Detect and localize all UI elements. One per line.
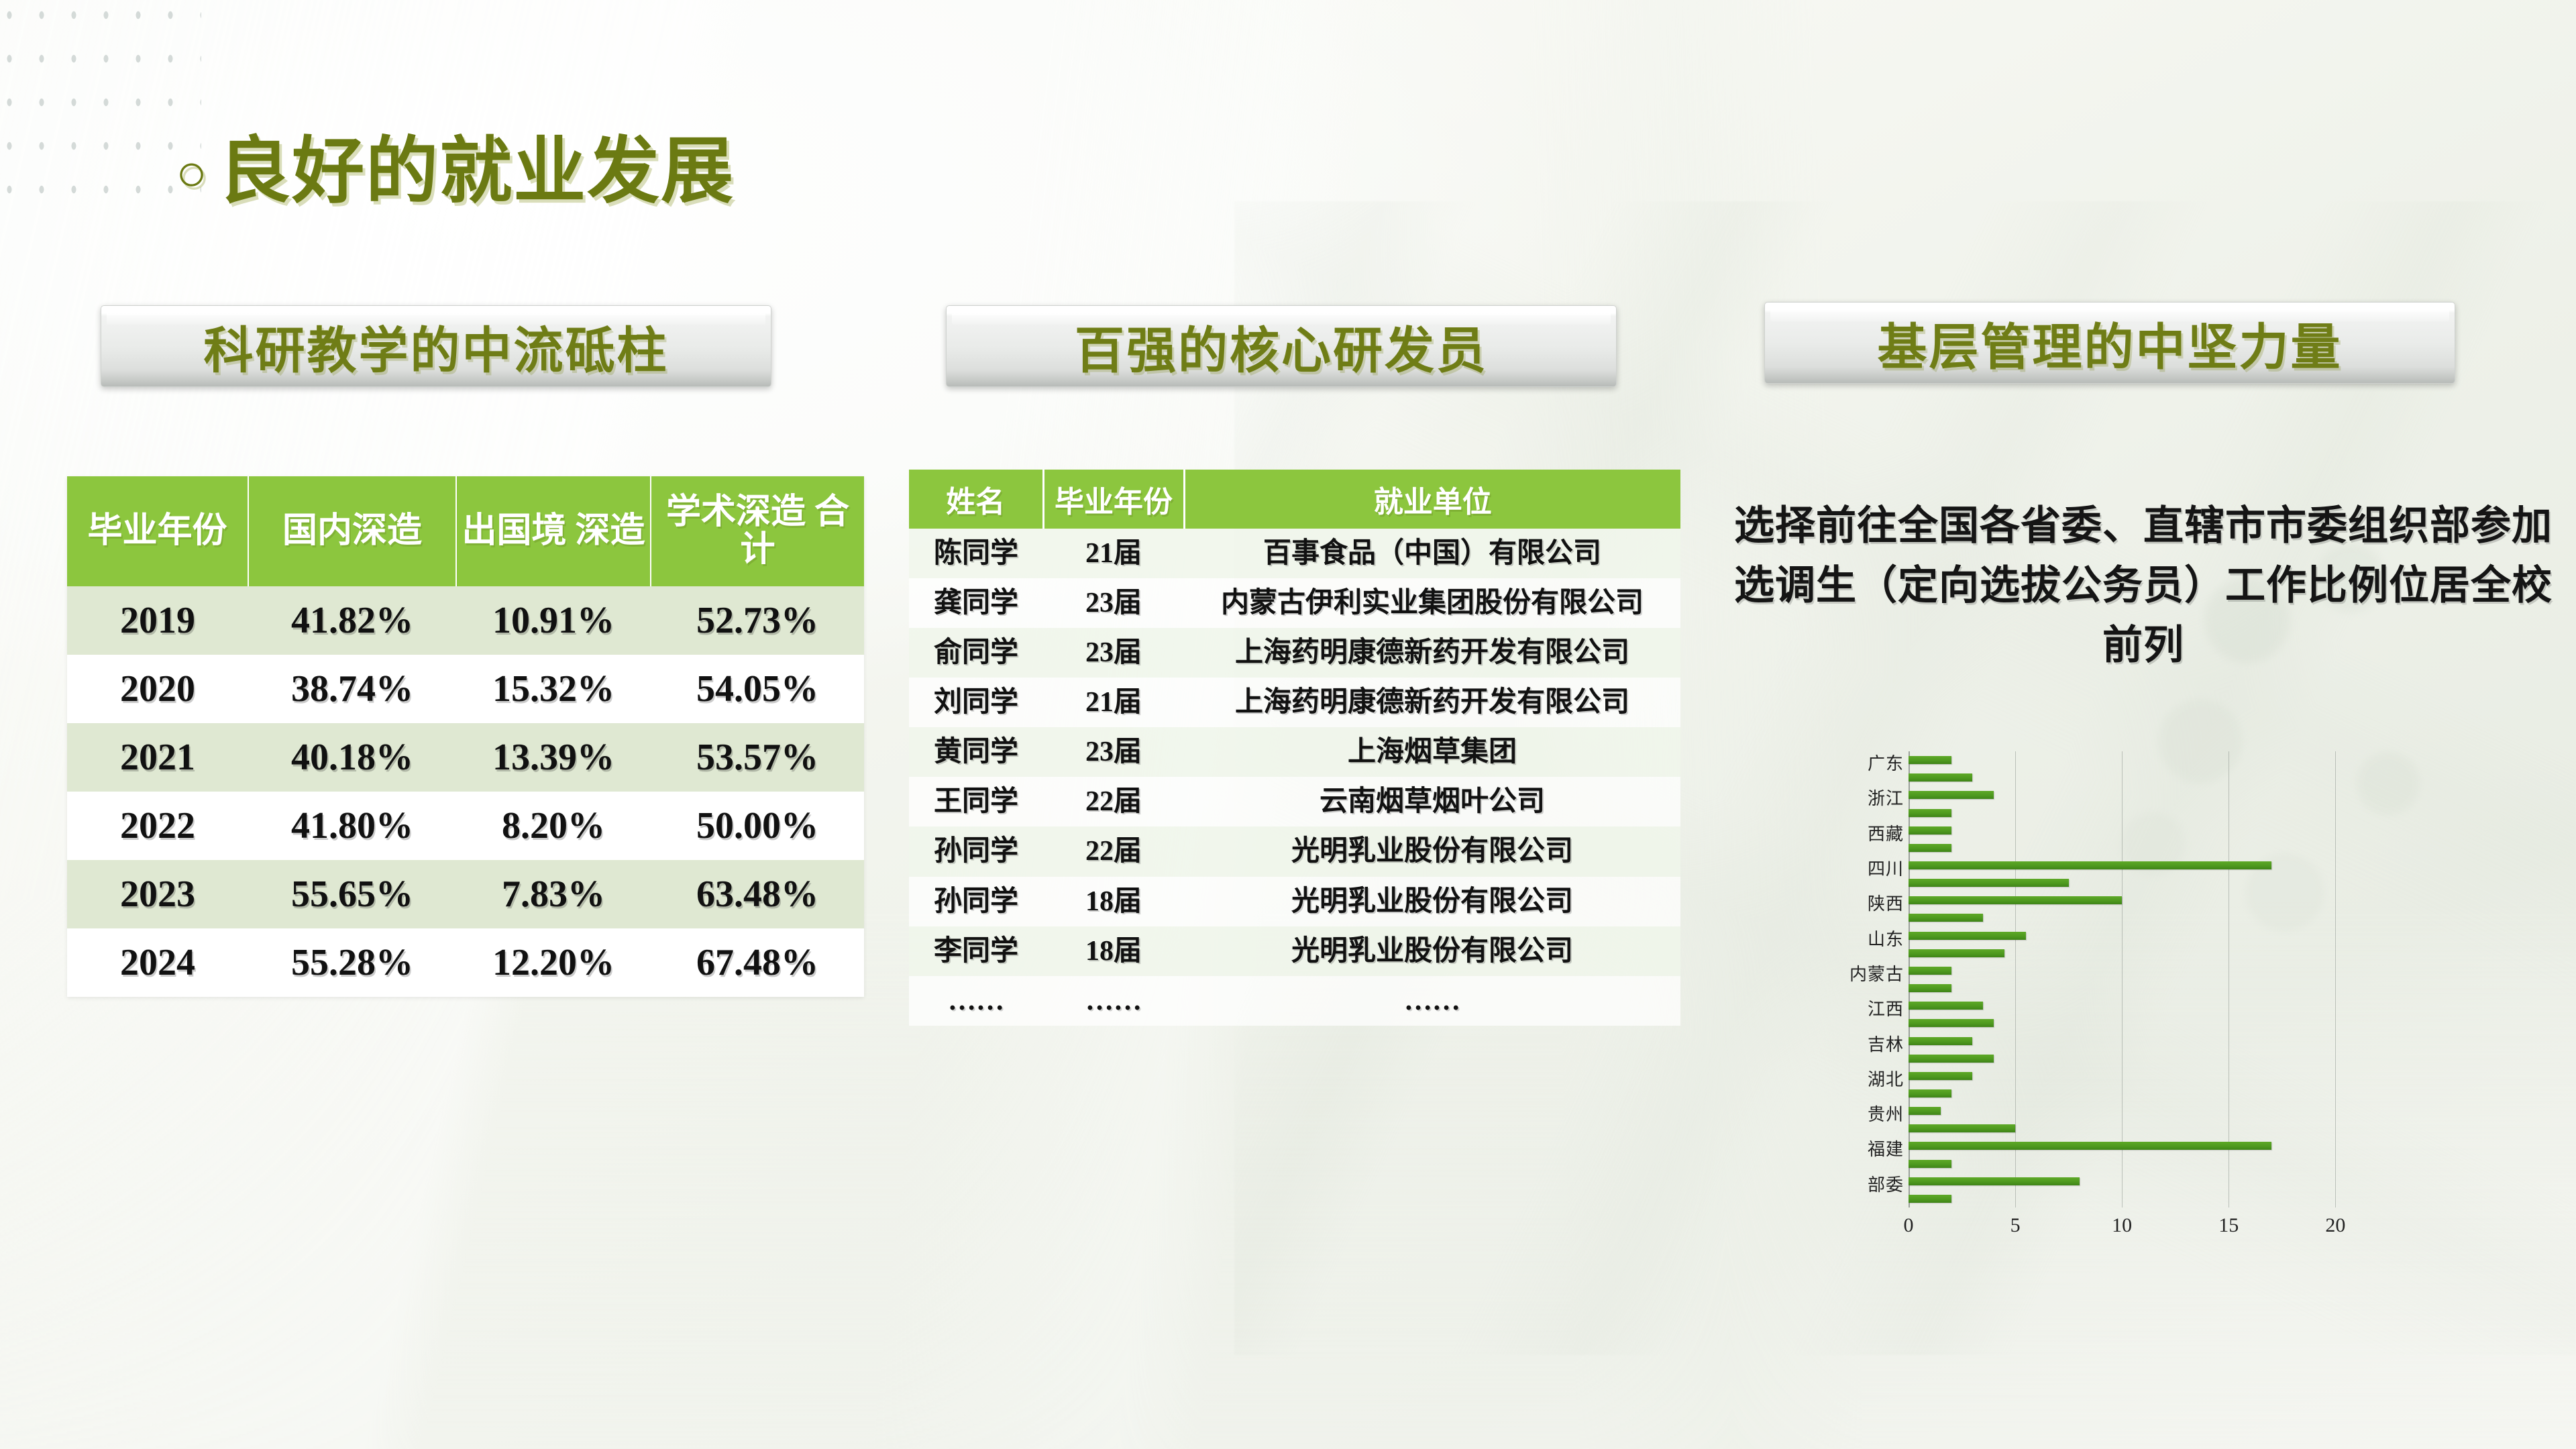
chart-plot-area — [1909, 751, 2378, 1207]
cell-domestic: 38.74% — [248, 655, 456, 723]
circle-bullet-icon: ○ — [176, 144, 209, 202]
table-row: 陈同学 21届 百事食品（中国）有限公司 — [909, 529, 1680, 578]
chart-y-label: 广东 — [1868, 750, 1904, 775]
cell-domestic: 55.28% — [248, 928, 456, 997]
table-row: 孙同学 22届 光明乳业股份有限公司 — [909, 826, 1680, 876]
column-header-year: 毕业年份 — [1043, 470, 1184, 529]
province-distribution-chart: 05101520广东浙江西藏四川陕西山东内蒙古江西吉林湖北贵州福建部委 — [1825, 751, 2495, 1248]
chart-y-label: 内蒙古 — [1849, 961, 1904, 985]
cell-domestic: 55.65% — [248, 860, 456, 928]
chart-x-tick-label: 10 — [2112, 1214, 2132, 1237]
cell-employer: 上海烟草集团 — [1184, 727, 1680, 777]
selection-program-description: 选择前往全国各省委、直辖市市委组织部参加选调生（定向选拔公务员）工作比例位居全校… — [1731, 496, 2556, 675]
table-row: 2023 55.65% 7.83% 63.48% — [67, 860, 864, 928]
chart-bar-row — [1909, 932, 2026, 940]
table-header-row: 姓名 毕业年份 就业单位 — [909, 470, 1680, 529]
chart-x-tick-label: 5 — [2010, 1214, 2021, 1237]
chart-bar — [1909, 896, 2122, 904]
cell-name: 龚同学 — [909, 578, 1043, 628]
table-row: 2022 41.80% 8.20% 50.00% — [67, 792, 864, 860]
chart-bar-row — [1909, 879, 2069, 887]
banner-core-rd: 百强的核心研发员 — [946, 305, 1617, 387]
chart-gridline — [2335, 751, 2336, 1207]
chart-bar-row — [1909, 1107, 1941, 1115]
cell-employer: 内蒙古伊利实业集团股份有限公司 — [1184, 578, 1680, 628]
chart-bar-row — [1909, 826, 1951, 835]
cell-total: 53.57% — [651, 723, 864, 792]
chart-bar — [1909, 1195, 1951, 1203]
chart-bar-row — [1909, 1124, 2015, 1132]
chart-y-label: 福建 — [1868, 1136, 1904, 1161]
column-header-name: 姓名 — [909, 470, 1043, 529]
chart-y-axis — [1909, 751, 1910, 1207]
chart-bar — [1909, 1002, 1983, 1010]
chart-y-label: 陕西 — [1868, 890, 1904, 915]
cell-name: 刘同学 — [909, 678, 1043, 727]
chart-bar-row — [1909, 861, 2271, 869]
chart-bar-row — [1909, 967, 1951, 975]
table-row: 2019 41.82% 10.91% 52.73% — [67, 586, 864, 655]
cell-overseas: 8.20% — [456, 792, 651, 860]
cell-domestic: 41.80% — [248, 792, 456, 860]
cell-year: 18届 — [1043, 877, 1184, 926]
dot-grid-decoration — [0, 0, 201, 208]
cell-domestic: 40.18% — [248, 723, 456, 792]
chart-bar-row — [1909, 1019, 1994, 1027]
banner-research-teaching: 科研教学的中流砥柱 — [101, 305, 771, 387]
table-row: 2020 38.74% 15.32% 54.05% — [67, 655, 864, 723]
chart-bar-row — [1909, 1002, 1983, 1010]
chart-gridline — [2015, 751, 2016, 1207]
cell-year: 2022 — [67, 792, 248, 860]
cell-year: 23届 — [1043, 628, 1184, 678]
chart-bar — [1909, 984, 1951, 992]
cell-employer: 百事食品（中国）有限公司 — [1184, 529, 1680, 578]
cell-overseas: 7.83% — [456, 860, 651, 928]
chart-bar — [1909, 1160, 1951, 1168]
cell-total: 50.00% — [651, 792, 864, 860]
chart-bar — [1909, 879, 2069, 887]
chart-bar-row — [1909, 1177, 2080, 1185]
cell-year: …… — [1043, 976, 1184, 1026]
column-header-domestic: 国内深造 — [248, 476, 456, 586]
cell-employer: 上海药明康德新药开发有限公司 — [1184, 628, 1680, 678]
chart-bar-row — [1909, 1089, 1951, 1097]
chart-x-tick-label: 20 — [2325, 1214, 2345, 1237]
chart-bar-row — [1909, 984, 1951, 992]
chart-bar — [1909, 844, 1951, 852]
chart-bar-row — [1909, 756, 1951, 764]
chart-bar — [1909, 773, 1972, 782]
chart-y-label: 浙江 — [1868, 785, 1904, 810]
chart-bar-row — [1909, 1195, 1951, 1203]
chart-y-label: 贵州 — [1868, 1101, 1904, 1126]
cell-year: 2019 — [67, 586, 248, 655]
column-header-overseas: 出国境 深造 — [456, 476, 651, 586]
chart-bar — [1909, 1089, 1951, 1097]
chart-bar-row — [1909, 914, 1983, 922]
chart-y-label: 部委 — [1868, 1171, 1904, 1196]
chart-bar — [1909, 914, 1983, 922]
table-row: 刘同学 21届 上海药明康德新药开发有限公司 — [909, 678, 1680, 727]
chart-bar — [1909, 861, 2271, 869]
chart-bar — [1909, 1037, 1972, 1045]
cell-year: 2020 — [67, 655, 248, 723]
table-row: 孙同学 18届 光明乳业股份有限公司 — [909, 877, 1680, 926]
banner-label: 科研教学的中流砥柱 — [204, 311, 669, 382]
table-header-row: 毕业年份 国内深造 出国境 深造 学术深造 合计 — [67, 476, 864, 586]
chart-bar — [1909, 1177, 2080, 1185]
chart-y-label: 吉林 — [1868, 1031, 1904, 1056]
chart-bar-row — [1909, 1055, 1994, 1063]
cell-year: 21届 — [1043, 529, 1184, 578]
chart-bar — [1909, 932, 2026, 940]
cell-year: 22届 — [1043, 826, 1184, 876]
cell-year: 2024 — [67, 928, 248, 997]
chart-bar-row — [1909, 1142, 2271, 1150]
cell-overseas: 12.20% — [456, 928, 651, 997]
table-row: 黄同学 23届 上海烟草集团 — [909, 727, 1680, 777]
page-title-text: 良好的就业发展 — [218, 132, 735, 212]
chart-bar — [1909, 809, 1951, 817]
table-row: 王同学 22届 云南烟草烟叶公司 — [909, 777, 1680, 826]
chart-bar-row — [1909, 1160, 1951, 1168]
chart-bar-row — [1909, 949, 2004, 957]
chart-bar — [1909, 1072, 1972, 1080]
chart-bar — [1909, 756, 1951, 764]
chart-bar — [1909, 826, 1951, 835]
cell-total: 54.05% — [651, 655, 864, 723]
cell-name: 俞同学 — [909, 628, 1043, 678]
cell-year: 23届 — [1043, 727, 1184, 777]
chart-bar-row — [1909, 791, 1994, 799]
banner-label: 百强的核心研发员 — [1075, 311, 1488, 382]
cell-employer: 云南烟草烟叶公司 — [1184, 777, 1680, 826]
chart-x-tick-label: 0 — [1904, 1214, 1914, 1237]
column-header-total: 学术深造 合计 — [651, 476, 864, 586]
chart-bar — [1909, 967, 1951, 975]
chart-bar — [1909, 949, 2004, 957]
cell-name: 李同学 — [909, 926, 1043, 976]
table-row: 龚同学 23届 内蒙古伊利实业集团股份有限公司 — [909, 578, 1680, 628]
chart-bar — [1909, 1124, 2015, 1132]
page-title: ○良好的就业发展 — [176, 113, 735, 217]
chart-bar — [1909, 1142, 2271, 1150]
chart-bar — [1909, 1107, 1941, 1115]
chart-y-label: 四川 — [1868, 855, 1904, 880]
cell-name: 孙同学 — [909, 826, 1043, 876]
table-row: 李同学 18届 光明乳业股份有限公司 — [909, 926, 1680, 976]
cell-name: …… — [909, 976, 1043, 1026]
cell-name: 陈同学 — [909, 529, 1043, 578]
further-study-table: 毕业年份 国内深造 出国境 深造 学术深造 合计 2019 41.82% 10.… — [67, 476, 864, 997]
chart-bar — [1909, 1055, 1994, 1063]
cell-name: 黄同学 — [909, 727, 1043, 777]
table-row-ellipsis: …… …… …… — [909, 976, 1680, 1026]
cell-total: 63.48% — [651, 860, 864, 928]
chart-x-tick-label: 15 — [2218, 1214, 2239, 1237]
cell-overseas: 10.91% — [456, 586, 651, 655]
column-header-employer: 就业单位 — [1184, 470, 1680, 529]
banner-grassroots-management: 基层管理的中坚力量 — [1764, 302, 2455, 384]
chart-bar-row — [1909, 773, 1972, 782]
cell-year: 21届 — [1043, 678, 1184, 727]
cell-name: 王同学 — [909, 777, 1043, 826]
chart-gridline — [2229, 751, 2229, 1207]
table-row: 俞同学 23届 上海药明康德新药开发有限公司 — [909, 628, 1680, 678]
cell-year: 23届 — [1043, 578, 1184, 628]
chart-bar — [1909, 791, 1994, 799]
chart-bar — [1909, 1019, 1994, 1027]
chart-bar-row — [1909, 1037, 1972, 1045]
cell-overseas: 13.39% — [456, 723, 651, 792]
cell-employer: 光明乳业股份有限公司 — [1184, 826, 1680, 876]
cell-year: 18届 — [1043, 926, 1184, 976]
chart-y-label: 山东 — [1868, 926, 1904, 951]
chart-bar-row — [1909, 844, 1951, 852]
table-row: 2024 55.28% 12.20% 67.48% — [67, 928, 864, 997]
employment-table: 姓名 毕业年份 就业单位 陈同学 21届 百事食品（中国）有限公司 龚同学 23… — [909, 470, 1680, 1026]
banner-label: 基层管理的中坚力量 — [1878, 307, 2343, 379]
cell-year: 22届 — [1043, 777, 1184, 826]
chart-y-label: 西藏 — [1868, 820, 1904, 845]
chart-bar-row — [1909, 809, 1951, 817]
cell-year: 2023 — [67, 860, 248, 928]
cell-employer: 光明乳业股份有限公司 — [1184, 877, 1680, 926]
chart-y-label: 江西 — [1868, 996, 1904, 1020]
cell-overseas: 15.32% — [456, 655, 651, 723]
cell-year: 2021 — [67, 723, 248, 792]
chart-bar-row — [1909, 1072, 1972, 1080]
column-header-year: 毕业年份 — [67, 476, 248, 586]
table-row: 2021 40.18% 13.39% 53.57% — [67, 723, 864, 792]
cell-employer: 光明乳业股份有限公司 — [1184, 926, 1680, 976]
chart-bar-row — [1909, 896, 2122, 904]
chart-gridline — [2122, 751, 2123, 1207]
cell-employer: …… — [1184, 976, 1680, 1026]
cell-total: 52.73% — [651, 586, 864, 655]
chart-y-label: 湖北 — [1868, 1066, 1904, 1091]
cell-name: 孙同学 — [909, 877, 1043, 926]
cell-employer: 上海药明康德新药开发有限公司 — [1184, 678, 1680, 727]
cell-total: 67.48% — [651, 928, 864, 997]
cell-domestic: 41.82% — [248, 586, 456, 655]
